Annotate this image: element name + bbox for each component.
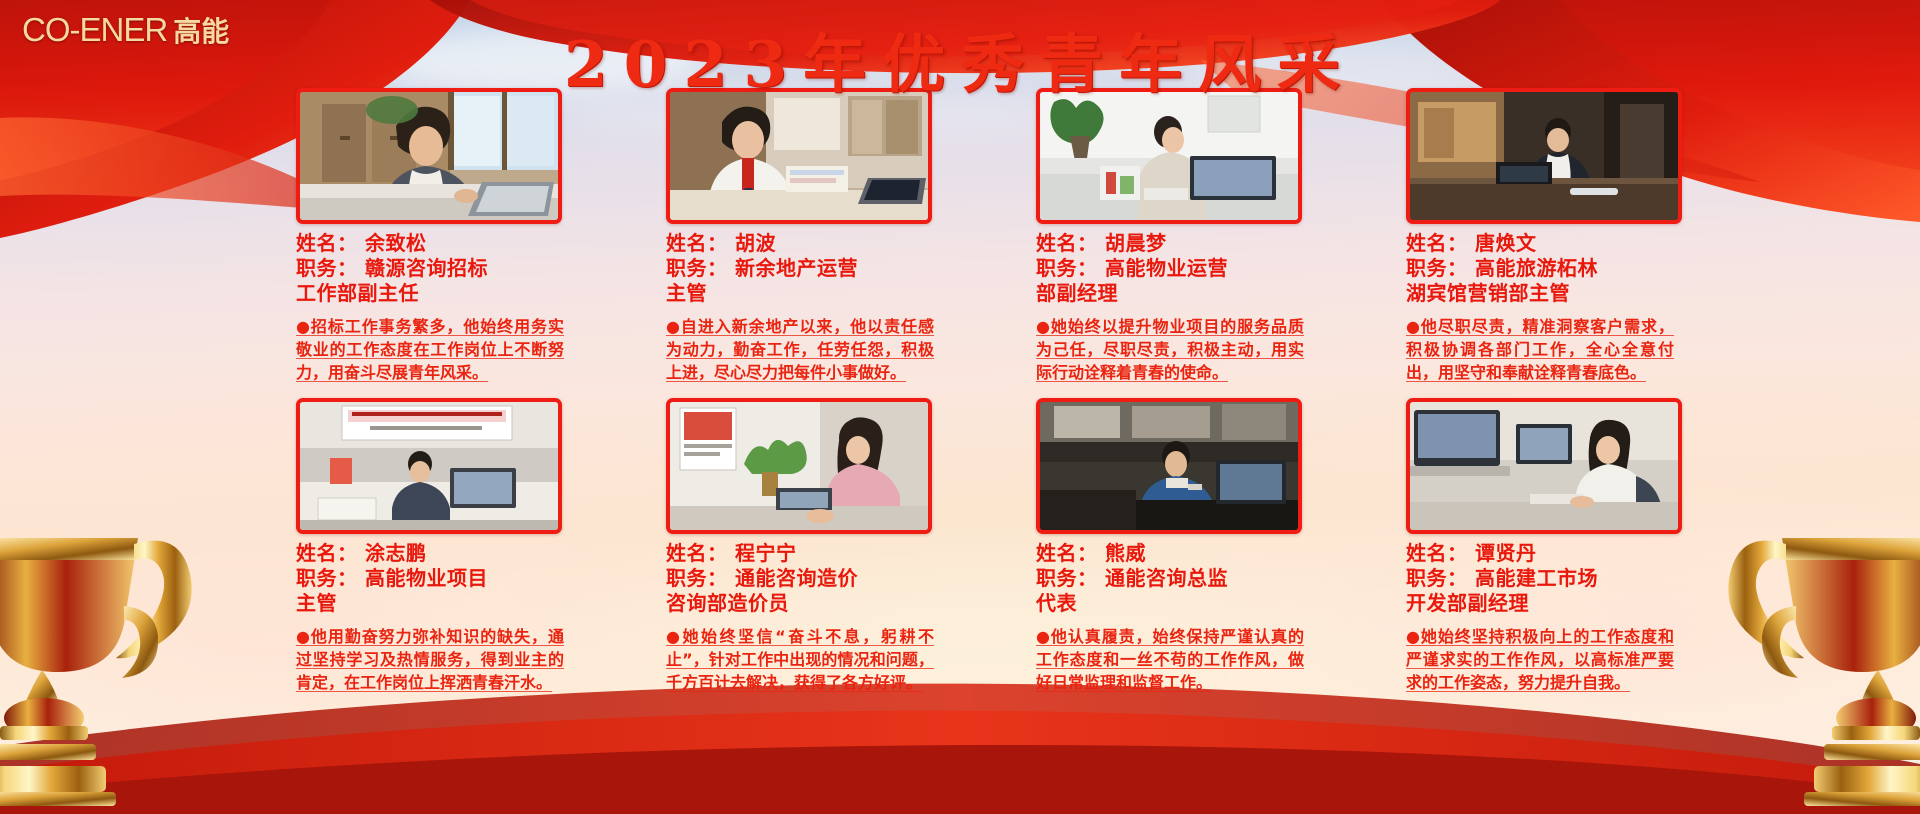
poster-canvas: CO-ENER 高能 2023年优秀青年风采	[0, 0, 1920, 814]
person-title-1: 职务： 高能物业运营	[1036, 256, 1406, 281]
person-name: 姓名： 熊威	[1036, 541, 1406, 566]
person-card[interactable]: 姓名： 涂志鹏 职务： 高能物业项目 主管 ●他用勤奋努力弥补知识的缺失，通过坚…	[296, 398, 666, 694]
page-title: 2023年优秀青年风采	[0, 14, 1920, 105]
person-name: 姓名： 唐焕文	[1406, 231, 1776, 256]
person-title-2: 工作部副主任	[296, 281, 666, 306]
person-title-1: 职务： 高能物业项目	[296, 566, 666, 591]
person-title-1: 职务： 高能旅游柘林	[1406, 256, 1776, 281]
brand-logo: CO-ENER 高能	[22, 10, 270, 50]
person-meta: 姓名： 谭贤丹 职务： 高能建工市场 开发部副经理	[1406, 541, 1776, 616]
person-title-2: 开发部副经理	[1406, 591, 1776, 616]
person-card[interactable]: 姓名： 余致松 职务： 赣源咨询招标 工作部副主任 ●招标工作事务繁多，他始终用…	[296, 88, 666, 384]
person-meta: 姓名： 胡晨梦 职务： 高能物业运营 部副经理	[1036, 231, 1406, 306]
person-name: 姓名： 谭贤丹	[1406, 541, 1776, 566]
person-meta: 姓名： 涂志鹏 职务： 高能物业项目 主管	[296, 541, 666, 616]
people-row-2: 姓名： 涂志鹏 职务： 高能物业项目 主管 ●他用勤奋努力弥补知识的缺失，通过坚…	[0, 398, 1920, 694]
person-description: ●她始终坚持积极向上的工作态度和严谨求实的工作作风，以高标准严要求的工作姿态，努…	[1406, 625, 1674, 694]
person-card[interactable]: 姓名： 胡波 职务： 新余地产运营 主管 ●自进入新余地产以来，他以责任感为动力…	[666, 88, 1036, 384]
person-photo	[296, 398, 562, 534]
person-photo	[666, 88, 932, 224]
person-photo	[1406, 398, 1682, 534]
person-title-1: 职务： 高能建工市场	[1406, 566, 1776, 591]
person-description: ●他认真履责，始终保持严谨认真的工作态度和一丝不苟的工作作风，做好日常监理和监督…	[1036, 625, 1304, 694]
person-title-1: 职务： 新余地产运营	[666, 256, 1036, 281]
person-description: ●他用勤奋努力弥补知识的缺失，通过坚持学习及热情服务，得到业主的肯定，在工作岗位…	[296, 625, 564, 694]
person-title-2: 部副经理	[1036, 281, 1406, 306]
brand-chinese: 高能	[173, 10, 229, 50]
people-row-1: 姓名： 余致松 职务： 赣源咨询招标 工作部副主任 ●招标工作事务繁多，他始终用…	[0, 88, 1920, 384]
person-photo	[1406, 88, 1682, 224]
person-description: ●招标工作事务繁多，他始终用务实敬业的工作态度在工作岗位上不断努力，用奋斗尽展青…	[296, 315, 564, 384]
person-title-2: 代表	[1036, 591, 1406, 616]
person-card[interactable]: 姓名： 唐焕文 职务： 高能旅游柘林 湖宾馆营销部主管 ●他尽职尽责，精准洞察客…	[1406, 88, 1776, 384]
person-card[interactable]: 姓名： 熊威 职务： 通能咨询总监 代表 ●他认真履责，始终保持严谨认真的工作态…	[1036, 398, 1406, 694]
person-photo	[666, 398, 932, 534]
person-title-2: 主管	[296, 591, 666, 616]
person-name: 姓名： 程宁宁	[666, 541, 1036, 566]
person-photo	[1036, 398, 1302, 534]
person-title-2: 湖宾馆营销部主管	[1406, 281, 1776, 306]
person-title-1: 职务： 赣源咨询招标	[296, 256, 666, 281]
person-card[interactable]: 姓名： 谭贤丹 职务： 高能建工市场 开发部副经理 ●她始终坚持积极向上的工作态…	[1406, 398, 1776, 694]
person-description: ●他尽职尽责，精准洞察客户需求，积极协调各部门工作，全心全意付出，用坚守和奉献诠…	[1406, 315, 1674, 384]
person-description: ●她始终以提升物业项目的服务品质为己任，尽职尽责，积极主动，用实际行动诠释着青春…	[1036, 315, 1304, 384]
person-photo	[1036, 88, 1302, 224]
person-meta: 姓名： 程宁宁 职务： 通能咨询造价 咨询部造价员	[666, 541, 1036, 616]
person-card[interactable]: 姓名： 程宁宁 职务： 通能咨询造价 咨询部造价员 ●她始终坚信“奋斗不息，躬耕…	[666, 398, 1036, 694]
person-name: 姓名： 胡晨梦	[1036, 231, 1406, 256]
person-meta: 姓名： 余致松 职务： 赣源咨询招标 工作部副主任	[296, 231, 666, 306]
person-title-1: 职务： 通能咨询总监	[1036, 566, 1406, 591]
person-meta: 姓名： 唐焕文 职务： 高能旅游柘林 湖宾馆营销部主管	[1406, 231, 1776, 306]
person-name: 姓名： 胡波	[666, 231, 1036, 256]
person-description: ●自进入新余地产以来，他以责任感为动力，勤奋工作，任劳任怨，积极上进，尽心尽力把…	[666, 315, 934, 384]
person-description: ●她始终坚信“奋斗不息，躬耕不止”，针对工作中出现的情况和问题，千方百计去解决，…	[666, 625, 934, 694]
brand-latin: CO-ENER	[22, 11, 167, 49]
person-name: 姓名： 涂志鹏	[296, 541, 666, 566]
person-name: 姓名： 余致松	[296, 231, 666, 256]
person-title-2: 咨询部造价员	[666, 591, 1036, 616]
person-meta: 姓名： 胡波 职务： 新余地产运营 主管	[666, 231, 1036, 306]
person-meta: 姓名： 熊威 职务： 通能咨询总监 代表	[1036, 541, 1406, 616]
person-title-1: 职务： 通能咨询造价	[666, 566, 1036, 591]
people-grid: 姓名： 余致松 职务： 赣源咨询招标 工作部副主任 ●招标工作事务繁多，他始终用…	[0, 88, 1920, 694]
person-card[interactable]: 姓名： 胡晨梦 职务： 高能物业运营 部副经理 ●她始终以提升物业项目的服务品质…	[1036, 88, 1406, 384]
person-photo	[296, 88, 562, 224]
person-title-2: 主管	[666, 281, 1036, 306]
